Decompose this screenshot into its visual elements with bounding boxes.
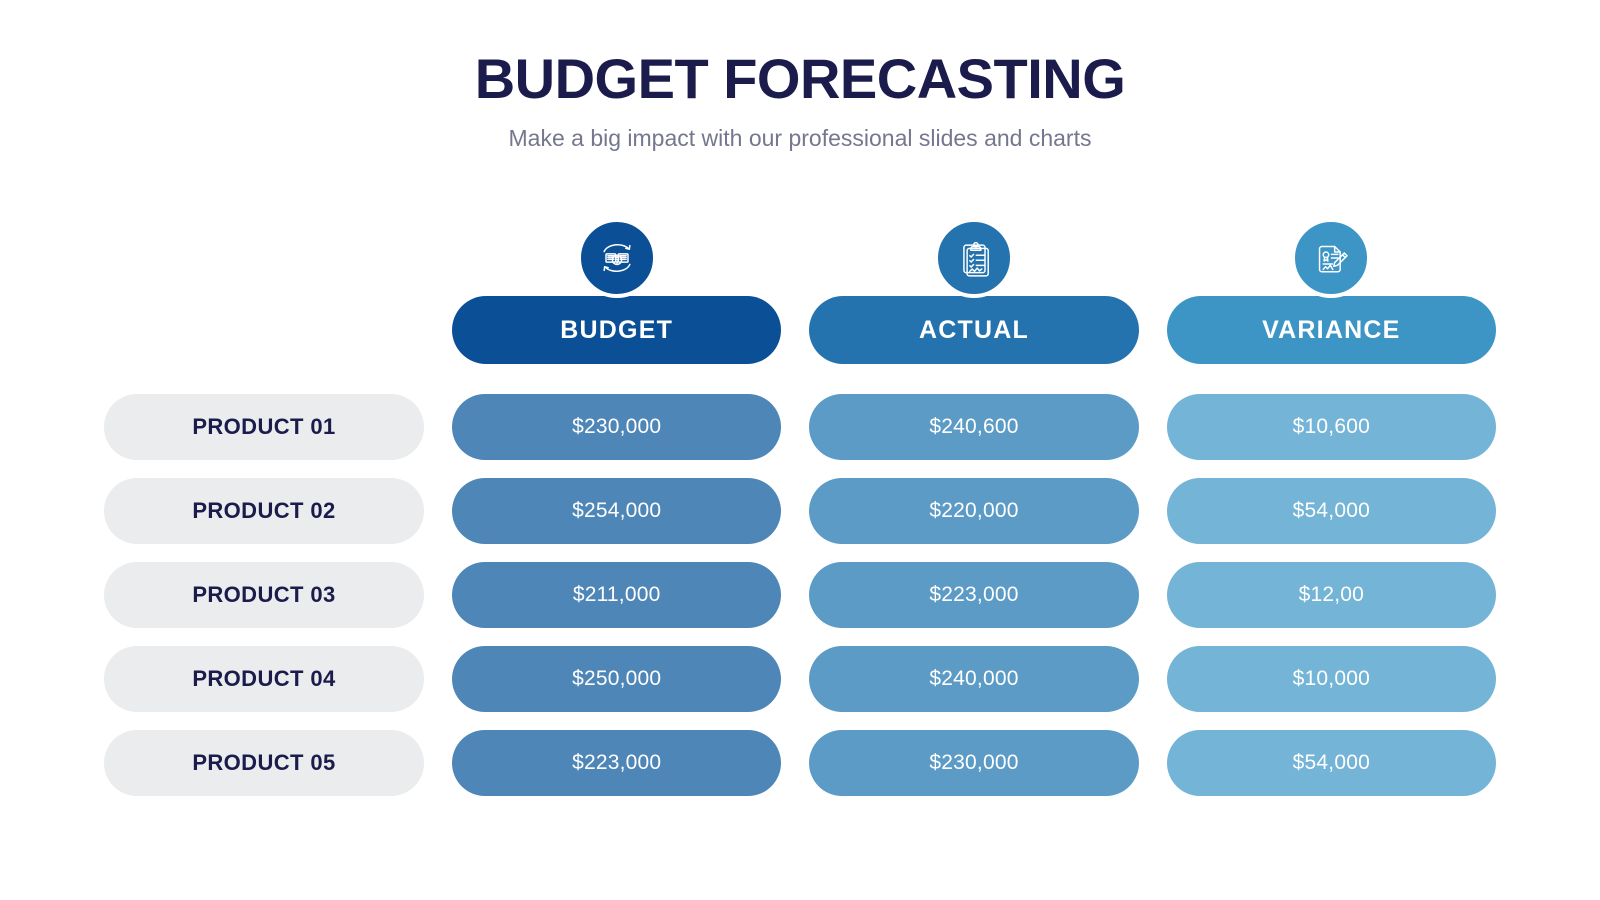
cell-actual: $220,000	[809, 478, 1138, 544]
page-title: BUDGET FORECASTING	[0, 48, 1600, 110]
column-header-actual[interactable]: ACTUAL	[809, 296, 1138, 364]
cell-actual: $223,000	[809, 562, 1138, 628]
cell-variance: $12,00	[1167, 562, 1496, 628]
cell-variance: $10,600	[1167, 394, 1496, 460]
corner-spacer	[104, 298, 424, 364]
table-header-row: BUDGET ACTUAL	[104, 296, 1496, 364]
cell-budget: $223,000	[452, 730, 781, 796]
money-cycle-icon	[577, 218, 657, 298]
page-subtitle: Make a big impact with our professional …	[0, 124, 1600, 154]
column-header-label: BUDGET	[452, 296, 781, 364]
cell-variance: $10,000	[1167, 646, 1496, 712]
row-label: PRODUCT 05	[104, 730, 424, 796]
cell-actual: $240,600	[809, 394, 1138, 460]
table-row: PRODUCT 01 $230,000 $240,600 $10,600	[104, 394, 1496, 460]
cell-actual: $230,000	[809, 730, 1138, 796]
cell-budget: $230,000	[452, 394, 781, 460]
column-header-label: VARIANCE	[1167, 296, 1496, 364]
table-row: PRODUCT 04 $250,000 $240,000 $10,000	[104, 646, 1496, 712]
cell-budget: $211,000	[452, 562, 781, 628]
row-label: PRODUCT 04	[104, 646, 424, 712]
row-label: PRODUCT 02	[104, 478, 424, 544]
slide-root: BUDGET FORECASTING Make a big impact wit…	[0, 0, 1600, 900]
row-label: PRODUCT 03	[104, 562, 424, 628]
cell-budget: $250,000	[452, 646, 781, 712]
cell-actual: $240,000	[809, 646, 1138, 712]
table-row: PRODUCT 02 $254,000 $220,000 $54,000	[104, 478, 1496, 544]
column-header-budget[interactable]: BUDGET	[452, 296, 781, 364]
table-row: PRODUCT 05 $223,000 $230,000 $54,000	[104, 730, 1496, 796]
column-header-variance[interactable]: VARIANCE	[1167, 296, 1496, 364]
header: BUDGET FORECASTING Make a big impact wit…	[0, 48, 1600, 153]
document-pen-icon	[1291, 218, 1371, 298]
cell-variance: $54,000	[1167, 478, 1496, 544]
cell-variance: $54,000	[1167, 730, 1496, 796]
forecast-table: BUDGET ACTUAL	[104, 296, 1496, 796]
column-header-label: ACTUAL	[809, 296, 1138, 364]
table-row: PRODUCT 03 $211,000 $223,000 $12,00	[104, 562, 1496, 628]
cell-budget: $254,000	[452, 478, 781, 544]
row-label: PRODUCT 01	[104, 394, 424, 460]
clipboard-check-icon	[934, 218, 1014, 298]
